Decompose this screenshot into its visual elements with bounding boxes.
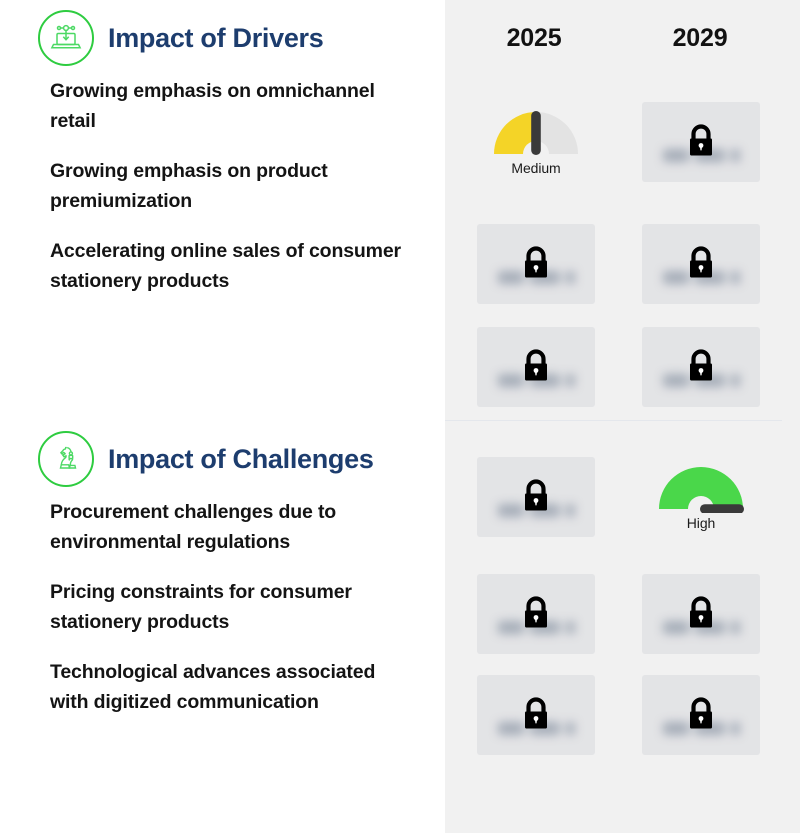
gauge-label: Medium: [511, 160, 560, 176]
locked-cell[interactable]: [642, 102, 760, 182]
content-column: Impact of Drivers Growing emphasis on om…: [0, 0, 445, 833]
section-drivers: Impact of Drivers Growing emphasis on om…: [0, 0, 445, 296]
bullet-list-drivers: Growing emphasis on omnichannel retail G…: [0, 76, 445, 296]
section-header-drivers: Impact of Drivers: [0, 0, 445, 76]
section-title-challenges: Impact of Challenges: [108, 444, 374, 475]
impact-matrix-page: 2025 2029 Impact of D: [0, 0, 800, 833]
chess-pieces-icon: [38, 431, 94, 487]
locked-tile[interactable]: [642, 327, 760, 407]
locked-cell[interactable]: [477, 574, 595, 654]
locked-tile[interactable]: [642, 102, 760, 182]
locked-tile[interactable]: [477, 574, 595, 654]
lock-icon: [518, 476, 554, 518]
lock-icon: [518, 694, 554, 736]
locked-cell[interactable]: [477, 224, 595, 304]
lock-icon: [683, 346, 719, 388]
lock-icon: [683, 593, 719, 635]
locked-tile[interactable]: [477, 675, 595, 755]
gauge-arc-medium: [488, 102, 584, 158]
locked-cell[interactable]: [642, 574, 760, 654]
gauge-cell-high-2029: High: [642, 457, 760, 537]
lock-icon: [518, 243, 554, 285]
locked-cell[interactable]: [477, 457, 595, 537]
locked-tile[interactable]: [642, 574, 760, 654]
locked-cell[interactable]: [477, 675, 595, 755]
locked-tile[interactable]: [642, 224, 760, 304]
bullet-list-challenges: Procurement challenges due to environmen…: [0, 497, 445, 717]
lock-icon: [683, 121, 719, 163]
locked-tile[interactable]: [477, 224, 595, 304]
lock-icon: [518, 593, 554, 635]
column-header-2029: 2029: [640, 24, 760, 53]
laptop-download-gear-icon: [38, 10, 94, 66]
locked-tile[interactable]: [642, 675, 760, 755]
gauge-high: High: [642, 457, 760, 537]
section-challenges: Impact of Challenges Procurement challen…: [0, 421, 445, 717]
section-header-challenges: Impact of Challenges: [0, 421, 445, 497]
gauge-arc-high: [653, 457, 749, 513]
locked-tile[interactable]: [477, 327, 595, 407]
lock-icon: [683, 243, 719, 285]
lock-icon: [683, 694, 719, 736]
bullet-item: Pricing constraints for consumer station…: [50, 577, 405, 637]
bullet-item: Growing emphasis on product premiumizati…: [50, 156, 405, 216]
locked-cell[interactable]: [642, 327, 760, 407]
lock-icon: [518, 346, 554, 388]
gauge-label: High: [687, 515, 715, 531]
locked-cell[interactable]: [477, 327, 595, 407]
locked-cell[interactable]: [642, 224, 760, 304]
locked-cell[interactable]: [642, 675, 760, 755]
bullet-item: Technological advances associated with d…: [50, 657, 405, 717]
bullet-item: Procurement challenges due to environmen…: [50, 497, 405, 557]
gauge-cell-medium-2025: Medium: [477, 102, 595, 182]
locked-tile[interactable]: [477, 457, 595, 537]
bullet-item: Growing emphasis on omnichannel retail: [50, 76, 405, 136]
column-header-2025: 2025: [474, 24, 594, 53]
gauge-medium: Medium: [477, 102, 595, 182]
section-title-drivers: Impact of Drivers: [108, 23, 323, 54]
bullet-item: Accelerating online sales of consumer st…: [50, 236, 405, 296]
